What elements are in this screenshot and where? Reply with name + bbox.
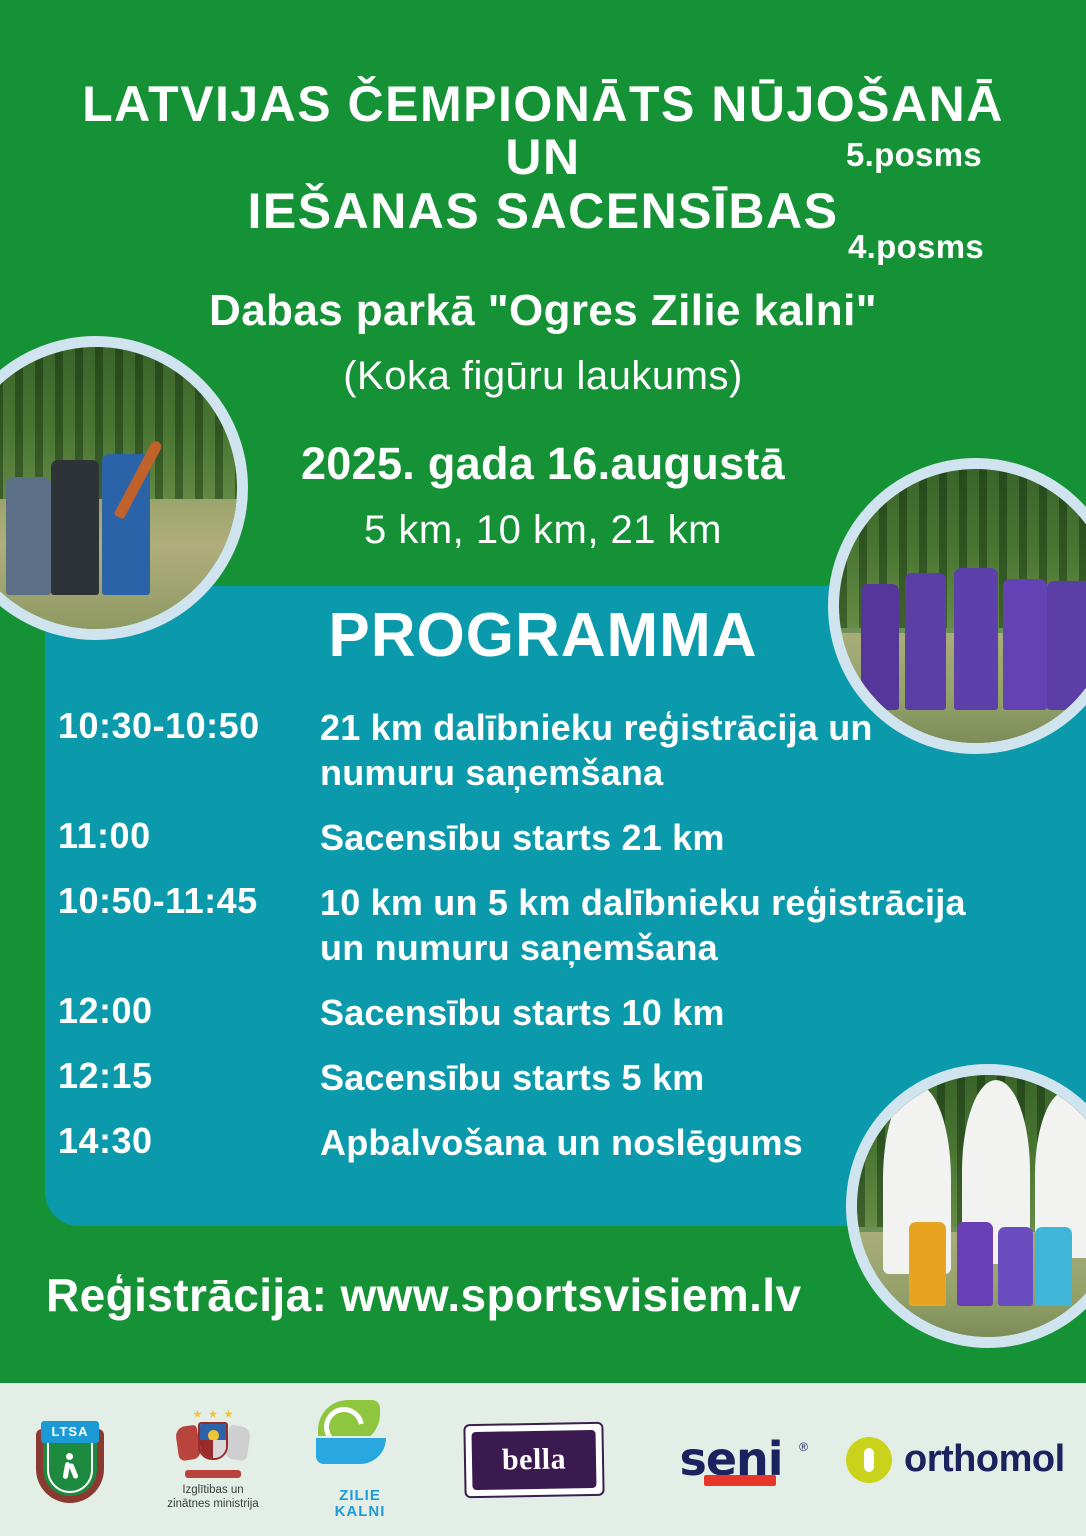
schedule-time: 14:30 [58,1120,320,1162]
programme-schedule: 10:30-10:50 21 km dalībnieku reģistrācij… [58,705,998,1172]
event-distances: 5 km, 10 km, 21 km [0,508,1086,553]
sponsor-strip: LTSA Izglītibas un zinātnes ministrija [0,1383,1086,1536]
programme-title: PROGRAMMA [0,600,1086,671]
event-date: 2025. gada 16.augustā [0,438,1086,490]
sponsor-logo-ltsa: LTSA [36,1383,104,1536]
headline-line-1: LATVIJAS ČEMPIONĀTS NŪJOŠANĀ [0,78,1086,131]
ltsa-shield-icon: LTSA [36,1417,104,1503]
zilie-kalni-wordmark: ZILIE KALNI [335,1488,386,1520]
schedule-desc: Sacensību starts 10 km [320,990,998,1035]
zilie-kalni-line-2: KALNI [335,1504,386,1520]
stage-label-bottom: 4.posms [848,228,984,266]
schedule-desc: 10 km un 5 km dalībnieku reģistrācija un… [320,880,998,970]
zilie-kalni-mark-icon [308,1400,412,1486]
seni-mark-icon: seni ® [652,1424,810,1496]
schedule-row: 10:50-11:45 10 km un 5 km dalībnieku reģ… [58,880,998,970]
schedule-time: 12:15 [58,1055,320,1097]
orthomol-mark-icon: orthomol [846,1427,1086,1493]
schedule-row: 10:30-10:50 21 km dalībnieku reģistrācij… [58,705,998,795]
sponsor-logo-izm: Izglītibas un zinātnes ministrija [162,1383,264,1536]
sponsor-logo-orthomol: orthomol [846,1383,1086,1536]
venue-name: Dabas parkā "Ogres Zilie kalni" [0,286,1086,336]
izm-caption: Izglītibas un zinātnes ministrija [162,1483,264,1512]
venue-detail: (Koka figūru laukums) [0,354,1086,399]
orthomol-dot-icon [846,1437,892,1483]
schedule-desc: Sacensību starts 5 km [320,1055,998,1100]
sponsor-logo-bella: bella [464,1383,604,1536]
schedule-row: 14:30 Apbalvošana un noslēgums [58,1120,998,1165]
schedule-time: 10:50-11:45 [58,880,320,922]
schedule-time: 10:30-10:50 [58,705,320,747]
event-poster: LATVIJAS ČEMPIONĀTS NŪJOŠANĀ UN IEŠANAS … [0,0,1086,1536]
stage-label-top: 5.posms [846,136,982,174]
schedule-row: 11:00 Sacensību starts 21 km [58,815,998,860]
schedule-desc: 21 km dalībnieku reģistrācija un numuru … [320,705,998,795]
schedule-desc: Apbalvošana un noslēgums [320,1120,998,1165]
walker-figure-icon [62,1453,80,1483]
zilie-kalni-line-1: ZILIE [335,1488,386,1504]
schedule-row: 12:00 Sacensību starts 10 km [58,990,998,1035]
latvia-coat-of-arms-icon [167,1408,259,1480]
ltsa-badge-text: LTSA [41,1421,99,1443]
bella-badge-icon: bella [463,1421,604,1497]
schedule-row: 12:15 Sacensību starts 5 km [58,1055,998,1100]
orthomol-wordmark: orthomol [904,1438,1065,1481]
sponsor-logo-zilie-kalni: ZILIE KALNI [308,1383,412,1536]
registration-line: Reģistrācija: www.sportsvisiem.lv [46,1268,801,1322]
schedule-time: 11:00 [58,815,320,857]
seni-registered-mark: ® [799,1440,808,1454]
schedule-time: 12:00 [58,990,320,1032]
sponsor-logo-seni: seni ® [652,1383,810,1536]
schedule-desc: Sacensību starts 21 km [320,815,998,860]
bella-wordmark: bella [472,1429,597,1489]
